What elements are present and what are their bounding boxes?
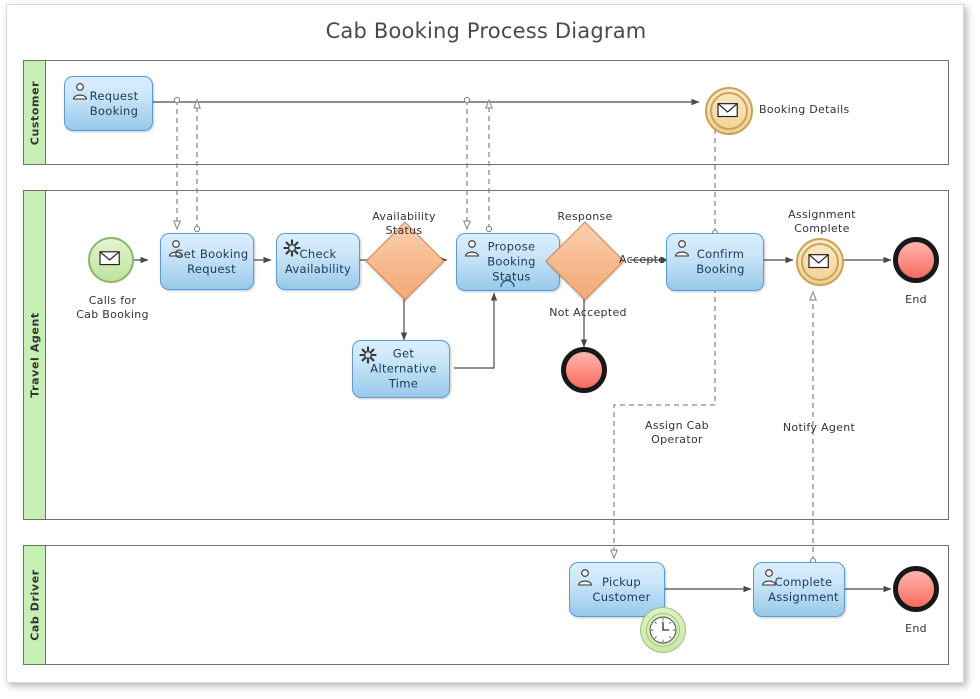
event-driver-end[interactable] (893, 566, 939, 612)
gateway-response[interactable] (557, 233, 611, 287)
task-label: Get Booking Request (161, 247, 253, 277)
event-pickup-timer-boundary[interactable] (640, 607, 686, 653)
task-complete-assignment[interactable]: Complete Assignment (753, 562, 845, 617)
lane-header-travel-agent: Travel Agent (24, 191, 46, 519)
lane-label-customer: Customer (28, 80, 41, 144)
lane-label-travel-agent: Travel Agent (28, 312, 41, 398)
label-agent-end: End (879, 293, 953, 307)
label-not-accepted: Not Accepted (533, 306, 643, 320)
lane-header-cab-driver: Cab Driver (24, 546, 46, 664)
label-booking-details: Booking Details (759, 103, 879, 117)
lane-label-cab-driver: Cab Driver (28, 569, 41, 641)
label-driver-end: End (879, 622, 953, 636)
envelope-icon (707, 89, 751, 133)
lane-header-customer: Customer (24, 61, 46, 164)
task-check-availability[interactable]: Check Availability (276, 233, 360, 290)
label-response: Response (531, 210, 639, 224)
task-request-booking[interactable]: Request Booking (64, 76, 153, 131)
task-label: Pickup Customer (570, 575, 664, 605)
event-agent-end[interactable] (893, 237, 939, 283)
task-label: Check Availability (277, 247, 359, 277)
diagram-canvas: Cab Booking Process Diagram Customer Tra… (6, 4, 964, 683)
loop-marker-icon (497, 272, 519, 288)
task-propose-booking-status[interactable]: Propose Booking Status (456, 233, 560, 291)
task-label: Confirm Booking (667, 247, 763, 277)
task-confirm-booking[interactable]: Confirm Booking (666, 233, 764, 291)
event-assignment-complete[interactable] (796, 238, 844, 286)
task-get-alternative-time[interactable]: Get Alternative Time (352, 340, 450, 398)
envelope-icon (798, 240, 842, 284)
task-label: Get Alternative Time (353, 347, 449, 392)
label-assignment-complete: Assignment Complete (764, 208, 880, 236)
gateway-availability-status[interactable] (377, 233, 431, 287)
task-label: Complete Assignment (754, 575, 844, 605)
label-assign-cab-operator: Assign Cab Operator (624, 419, 730, 447)
event-calls-for-cab-booking[interactable] (88, 237, 134, 283)
task-label: Request Booking (65, 89, 152, 119)
envelope-icon (90, 239, 132, 281)
page-title: Cab Booking Process Diagram (7, 19, 965, 43)
label-calls-for-cab-booking: Calls for Cab Booking (55, 294, 170, 322)
clock-icon (641, 608, 685, 652)
diagram-page: Cab Booking Process Diagram Customer Tra… (0, 0, 980, 699)
event-not-accepted-end[interactable] (561, 347, 607, 393)
event-booking-details[interactable] (705, 87, 753, 135)
label-notify-agent: Notify Agent (764, 421, 874, 435)
task-get-booking-request[interactable]: Get Booking Request (160, 233, 254, 290)
label-availability-status: Availability Status (349, 210, 459, 238)
